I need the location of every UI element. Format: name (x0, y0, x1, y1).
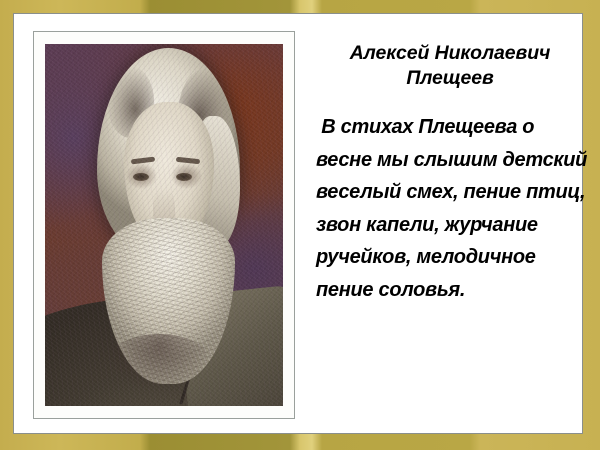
page-title: Алексей Николаевич Плещеев (310, 31, 590, 91)
portrait-photo (45, 44, 283, 406)
text-column: Алексей Николаевич Плещеев В стихах Плещ… (310, 31, 590, 419)
portrait-frame (33, 31, 295, 419)
portrait-grain-overlay (45, 44, 283, 406)
content-panel: Алексей Николаевич Плещеев В стихах Плещ… (13, 13, 583, 434)
body-paragraph: В стихах Плещеева о весне мы слышим детс… (310, 91, 590, 306)
slide-canvas: Алексей Николаевич Плещеев В стихах Плещ… (0, 0, 600, 450)
